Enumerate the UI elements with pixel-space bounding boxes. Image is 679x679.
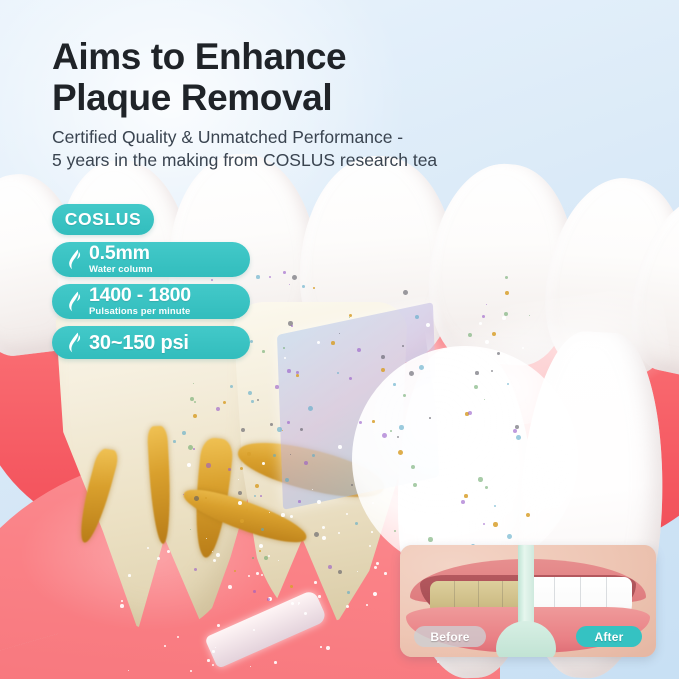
debris-particle [403,394,406,397]
debris-particle [238,491,242,495]
sparkle-particle [314,581,317,584]
sparkle-particle [228,585,232,589]
debris-particle [516,435,521,440]
debris-particle [402,345,404,347]
sparkle-particle [207,659,210,662]
debris-particle [247,452,251,456]
debris-particle [403,290,408,295]
sparkle-particle [322,526,325,529]
debris-particle [275,385,279,389]
debris-particle [347,591,350,594]
sparkle-particle [318,595,321,598]
debris-particle [429,417,431,419]
page-subtitle: Certified Quality & Unmatched Performanc… [52,126,522,173]
sparkle-particle [376,562,379,565]
sparkle-particle [253,629,255,631]
debris-particle [282,430,283,431]
debris-particle [522,347,524,349]
debris-particle [252,557,254,559]
debris-particle [292,275,297,280]
sparkle-particle [338,532,340,534]
debris-particle [426,323,430,327]
debris-particle [193,448,195,450]
debris-particle [270,423,273,426]
sparkle-particle [374,566,377,569]
debris-particle [349,377,352,380]
debris-particle [372,420,375,423]
debris-particle [289,284,290,285]
debris-particle [505,291,509,295]
debris-particle [493,522,498,527]
sparkle-particle [190,670,192,672]
sparkle-particle [320,646,322,648]
debris-particle [253,590,256,593]
debris-particle [262,350,265,353]
debris-particle [464,494,468,498]
debris-particle [409,371,414,376]
debris-particle [390,430,392,432]
spec-badge-pulsations: 1400 - 1800 Pulsations per minute [52,284,250,319]
debris-particle [505,355,509,359]
debris-particle [475,371,479,375]
debris-particle [194,496,199,501]
sparkle-particle [216,553,220,557]
debris-particle [393,383,396,386]
sparkle-particle [261,574,263,576]
debris-particle [371,531,373,533]
debris-particle [338,445,342,449]
debris-particle [259,544,263,548]
sparkle-particle [274,661,277,664]
debris-particle [267,598,270,601]
debris-particle [494,505,496,507]
debris-particle [481,431,484,434]
before-label: Before [414,626,486,647]
debris-particle [262,462,265,465]
sparkle-particle [268,555,270,557]
debris-particle [304,461,308,465]
debris-particle [454,407,459,412]
water-bolt-icon [62,290,84,314]
sparkle-particle [372,502,374,504]
product-infographic: Aims to Enhance Plaque Removal Certified… [0,0,679,679]
spec-badge-pressure: 30~150 psi [52,326,250,359]
debris-particle [256,275,260,279]
debris-particle [373,592,377,596]
debris-particle [328,565,332,569]
sparkle-particle [212,650,215,653]
spec-sublabel: Pulsations per minute [89,307,191,317]
water-jet-burst [352,346,578,572]
subhead-line-2: 5 years in the making from COSLUS resear… [52,149,522,172]
spec-text: 0.5mm Water column [89,244,153,275]
water-bolt-icon [62,248,84,272]
sparkle-particle [217,624,220,627]
water-bolt-icon [62,331,84,355]
debris-particle [331,341,335,345]
debris-particle [287,369,291,373]
debris-particle [461,500,465,504]
sparkle-particle [128,574,131,577]
debris-particle [277,427,282,432]
sparkle-particle [366,604,368,606]
debris-particle [283,347,285,349]
debris-particle [228,468,231,471]
debris-particle [483,523,485,525]
debris-particle [298,500,301,503]
spec-value: 1400 - 1800 [89,286,191,306]
debris-particle [471,480,476,485]
debris-particle [382,433,387,438]
debris-particle [479,322,482,325]
debris-particle [296,371,299,374]
debris-particle [468,333,472,337]
before-after-inset: Before After [400,545,656,657]
debris-particle [251,400,254,403]
spec-badge-water-column: 0.5mm Water column [52,242,250,277]
spec-value: 0.5mm [89,244,153,264]
sparkle-particle [431,526,433,528]
debris-particle [238,501,242,505]
sparkle-particle [326,646,330,650]
subhead-line-1: Certified Quality & Unmatched Performanc… [52,126,522,149]
debris-particle [296,374,299,377]
debris-particle [173,440,176,443]
sparkle-particle [415,493,418,496]
debris-particle [468,411,472,415]
sparkle-particle [256,572,259,575]
debris-particle [194,568,197,571]
debris-particle [246,509,248,511]
debris-particle [182,431,186,435]
sparkle-particle [120,604,124,608]
debris-particle [491,370,493,372]
headline-line-2: Plaque Removal [52,77,522,118]
debris-particle [478,477,483,482]
brand-label: COSLUS [65,209,142,230]
debris-particle [269,276,271,278]
debris-particle [205,497,207,499]
headline-line-1: Aims to Enhance [52,36,522,77]
brand-badge: COSLUS [52,204,154,235]
debris-particle [291,325,293,327]
spec-text: 1400 - 1800 Pulsations per minute [89,286,191,317]
debris-particle [260,495,262,497]
sparkle-particle [425,497,427,499]
after-label: After [576,626,642,647]
debris-particle [428,537,433,542]
sparkle-particle [437,661,439,663]
spec-value: 30~150 psi [89,333,189,353]
debris-particle [287,421,290,424]
debris-particle [381,355,385,359]
sparkle-particle [298,602,300,604]
sparkle-particle [121,600,123,602]
sparkle-particle [384,572,387,575]
sparkle-particle [281,513,285,517]
debris-particle [190,397,194,401]
debris-particle [381,368,385,372]
spec-sublabel: Water column [89,265,153,275]
debris-particle [337,372,339,374]
debris-particle [290,585,293,588]
debris-particle [399,425,404,430]
debris-particle [248,391,252,395]
debris-particle [507,534,512,539]
spec-pill-group: COSLUS 0.5mm Water column [52,204,250,366]
debris-particle [397,436,399,438]
page-title: Aims to Enhance Plaque Removal [52,36,522,119]
spec-text: 30~150 psi [89,333,189,353]
sparkle-particle [346,513,348,515]
debris-particle [502,316,506,320]
debris-particle [194,401,196,403]
debris-particle [285,478,289,482]
debris-particle [216,407,220,411]
debris-particle [474,385,478,389]
debris-particle [317,500,321,504]
debris-particle [313,287,315,289]
debris-particle [259,550,261,552]
sparkle-particle [157,557,160,560]
sparkle-particle [164,645,166,647]
debris-particle [302,285,305,288]
debris-particle [206,463,211,468]
debris-particle [283,271,286,274]
